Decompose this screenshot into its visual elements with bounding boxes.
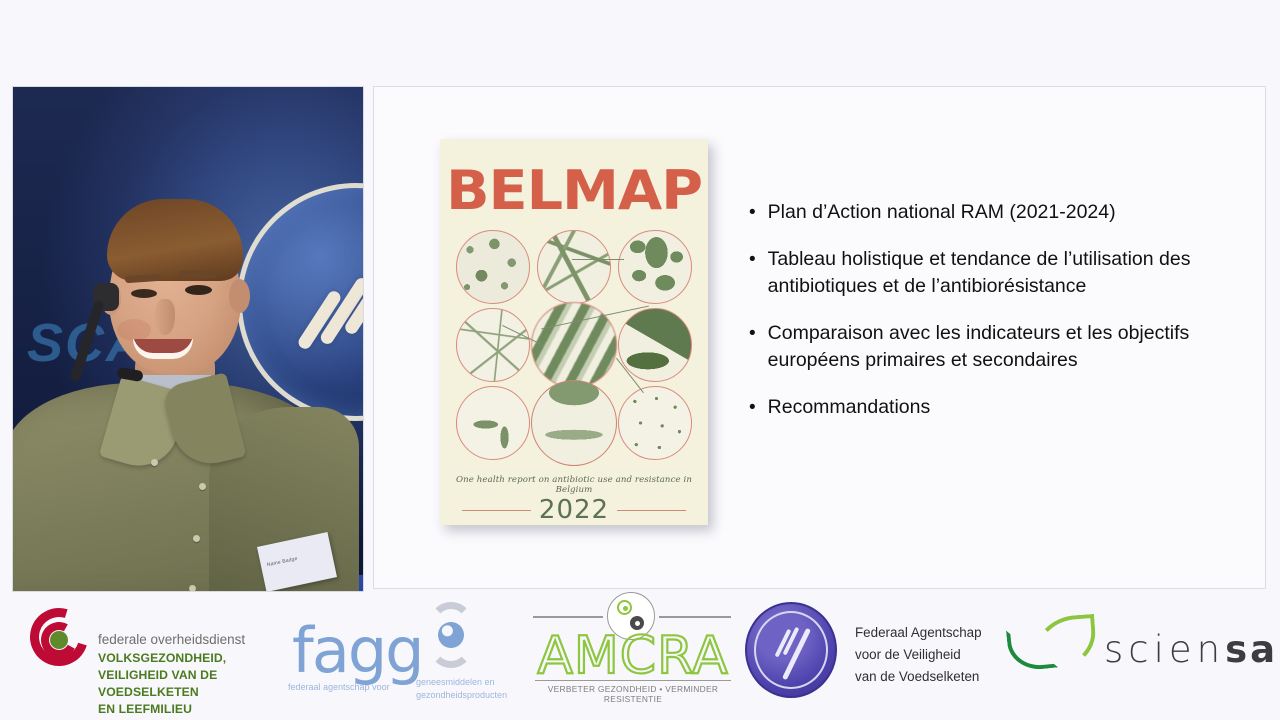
belmap-report-cover: BELMAP One health report on antibiotic u… <box>440 139 708 525</box>
bullet-text: Tableau holistique et tendance de l’util… <box>768 246 1247 300</box>
amcra-wordmark: AMCRA <box>533 626 733 686</box>
micrograph-disc-4 <box>456 308 530 382</box>
bullet-text: Comparaison avec les indicateurs et les … <box>768 320 1247 374</box>
fagg-tagline-left: federaal agentschap voor <box>288 682 390 692</box>
belmap-year: 2022 <box>539 495 609 525</box>
speaker-eye-left <box>131 289 157 298</box>
fod-green-dot-icon <box>50 631 68 649</box>
favv-text: Federaal Agentschap voor de Veiligheid v… <box>855 622 982 688</box>
cover-cell <box>615 229 694 305</box>
shirt-button <box>151 459 158 466</box>
slide-recording-stage: SCA de <box>0 0 1280 720</box>
speaker-eye-right <box>185 285 212 295</box>
micrograph-disc-9 <box>618 386 692 460</box>
slide-bullet-list: • Plan d’Action national RAM (2021-2024)… <box>749 199 1247 441</box>
sciensano-swoosh-light <box>1032 614 1098 672</box>
speaker-nose <box>155 299 175 335</box>
cover-cell <box>535 385 614 461</box>
rule-right <box>617 510 686 511</box>
cover-cell <box>535 229 614 305</box>
belmap-year-row: 2022 <box>462 495 686 525</box>
shirt-button <box>189 585 196 592</box>
fod-spiral-icon <box>28 606 90 670</box>
name-badge-text: Name Badge <box>266 556 298 568</box>
sciensano-wordmark: sciensano <box>1104 628 1280 671</box>
speaker-ear-right <box>229 279 250 313</box>
micrograph-disc-3 <box>618 230 692 304</box>
fod-line2: VOLKSGEZONDHEID, VEILIGHEID VAN DE VOEDS… <box>98 650 288 718</box>
bullet-item: • Recommandations <box>749 394 1247 421</box>
cover-micrograph-grid <box>454 229 694 461</box>
amcra-logo: AMCRA VERBETER GEZONDHEID • VERMINDER RE… <box>533 592 733 702</box>
sciensano-logo: sciensano <box>1008 614 1258 688</box>
amcra-rule-left <box>533 616 603 618</box>
bullet-item: • Tableau holistique et tendance de l’ut… <box>749 246 1247 300</box>
favv-plate-icon <box>745 602 837 698</box>
bullet-item: • Plan d’Action national RAM (2021-2024) <box>749 199 1247 226</box>
speaker-figure: Name Badge <box>13 87 364 592</box>
cover-cell <box>615 385 694 461</box>
bullet-marker-icon: • <box>749 199 756 226</box>
cover-cell <box>454 385 533 461</box>
micrograph-disc-6 <box>618 308 692 382</box>
fagg-wordmark: fagg <box>292 620 423 682</box>
sciensano-leaf-icon <box>1008 614 1104 676</box>
federale-overheidsdienst-logo: federale overheidsdienst VOLKSGEZONDHEID… <box>28 602 288 702</box>
shirt-button <box>193 535 200 542</box>
speaker-video-panel[interactable]: SCA de <box>12 86 364 592</box>
cover-connector-line <box>572 259 624 260</box>
amcra-tagline-rule <box>535 680 731 681</box>
rule-left <box>462 510 531 511</box>
speaker-cheek <box>117 319 151 341</box>
favv-logo: Federaal Agentschap voor de Veiligheid v… <box>745 600 995 706</box>
bullet-item: • Comparaison avec les indicateurs et le… <box>749 320 1247 374</box>
micrograph-disc-1 <box>456 230 530 304</box>
bullet-marker-icon: • <box>749 246 756 300</box>
sciensano-word-light: scien <box>1104 628 1225 671</box>
cover-cell <box>535 307 614 383</box>
amcra-green-circle-icon <box>617 600 632 615</box>
shirt-button <box>199 483 206 490</box>
belmap-title: BELMAP <box>440 159 708 222</box>
bullet-marker-icon: • <box>749 394 756 421</box>
fagg-logo: fagg federaal agentschap voor geneesmidd… <box>288 600 498 704</box>
amcra-rule-right <box>659 616 731 618</box>
favv-plate-ring <box>754 611 828 689</box>
bullet-text: Plan d’Action national RAM (2021-2024) <box>768 199 1116 226</box>
micrograph-disc-7 <box>456 386 530 460</box>
amcra-tagline: VERBETER GEZONDHEID • VERMINDER RESISTEN… <box>533 684 733 704</box>
fagg-iris <box>438 622 464 648</box>
bullet-text: Recommandations <box>768 394 931 421</box>
sciensano-word-bold: sano <box>1225 628 1280 671</box>
fagg-eye-icon <box>426 606 476 668</box>
cover-cell <box>454 307 533 383</box>
cover-cell <box>454 229 533 305</box>
fagg-tagline-right: geneesmiddelen en gezondheidsproducten <box>416 676 508 702</box>
micrograph-disc-8 <box>531 380 617 466</box>
belmap-subtitle: One health report on antibiotic use and … <box>450 475 698 495</box>
fod-line1: federale overheidsdienst <box>98 632 245 647</box>
partner-logo-bar: federale overheidsdienst VOLKSGEZONDHEID… <box>0 594 1280 720</box>
speaker-hair <box>107 199 243 281</box>
bullet-marker-icon: • <box>749 320 756 374</box>
headset-boom-arm-icon <box>69 299 104 382</box>
slide-content-panel[interactable]: BELMAP One health report on antibiotic u… <box>373 86 1266 589</box>
micrograph-disc-2 <box>537 230 611 304</box>
